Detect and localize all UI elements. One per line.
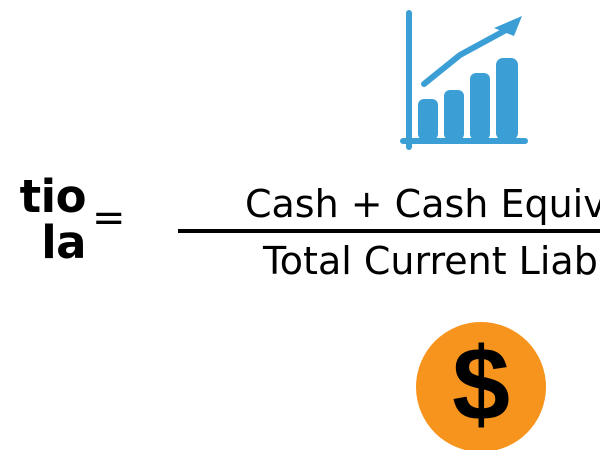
fraction-bar <box>178 229 600 233</box>
formula-title-line-2: la <box>0 220 86 266</box>
dollar-sign-glyph: $ <box>416 322 546 450</box>
fraction-numerator: Cash + Cash Equiva <box>178 182 600 226</box>
chart-bars <box>418 58 518 140</box>
dollar-coin-icon: $ <box>416 322 546 450</box>
fraction: Cash + Cash Equiva Total Current Liabil <box>178 182 600 283</box>
equals-sign: = <box>92 196 126 240</box>
fraction-denominator: Total Current Liabil <box>178 239 600 283</box>
bar-chart-growth-icon <box>396 4 532 156</box>
formula-illustration: tio la = Cash + Cash Equiva Total Curren… <box>0 0 600 450</box>
formula-title-line-1: tio <box>0 174 86 220</box>
formula-title-label: tio la <box>0 174 86 266</box>
bar-chart-svg <box>396 4 532 156</box>
